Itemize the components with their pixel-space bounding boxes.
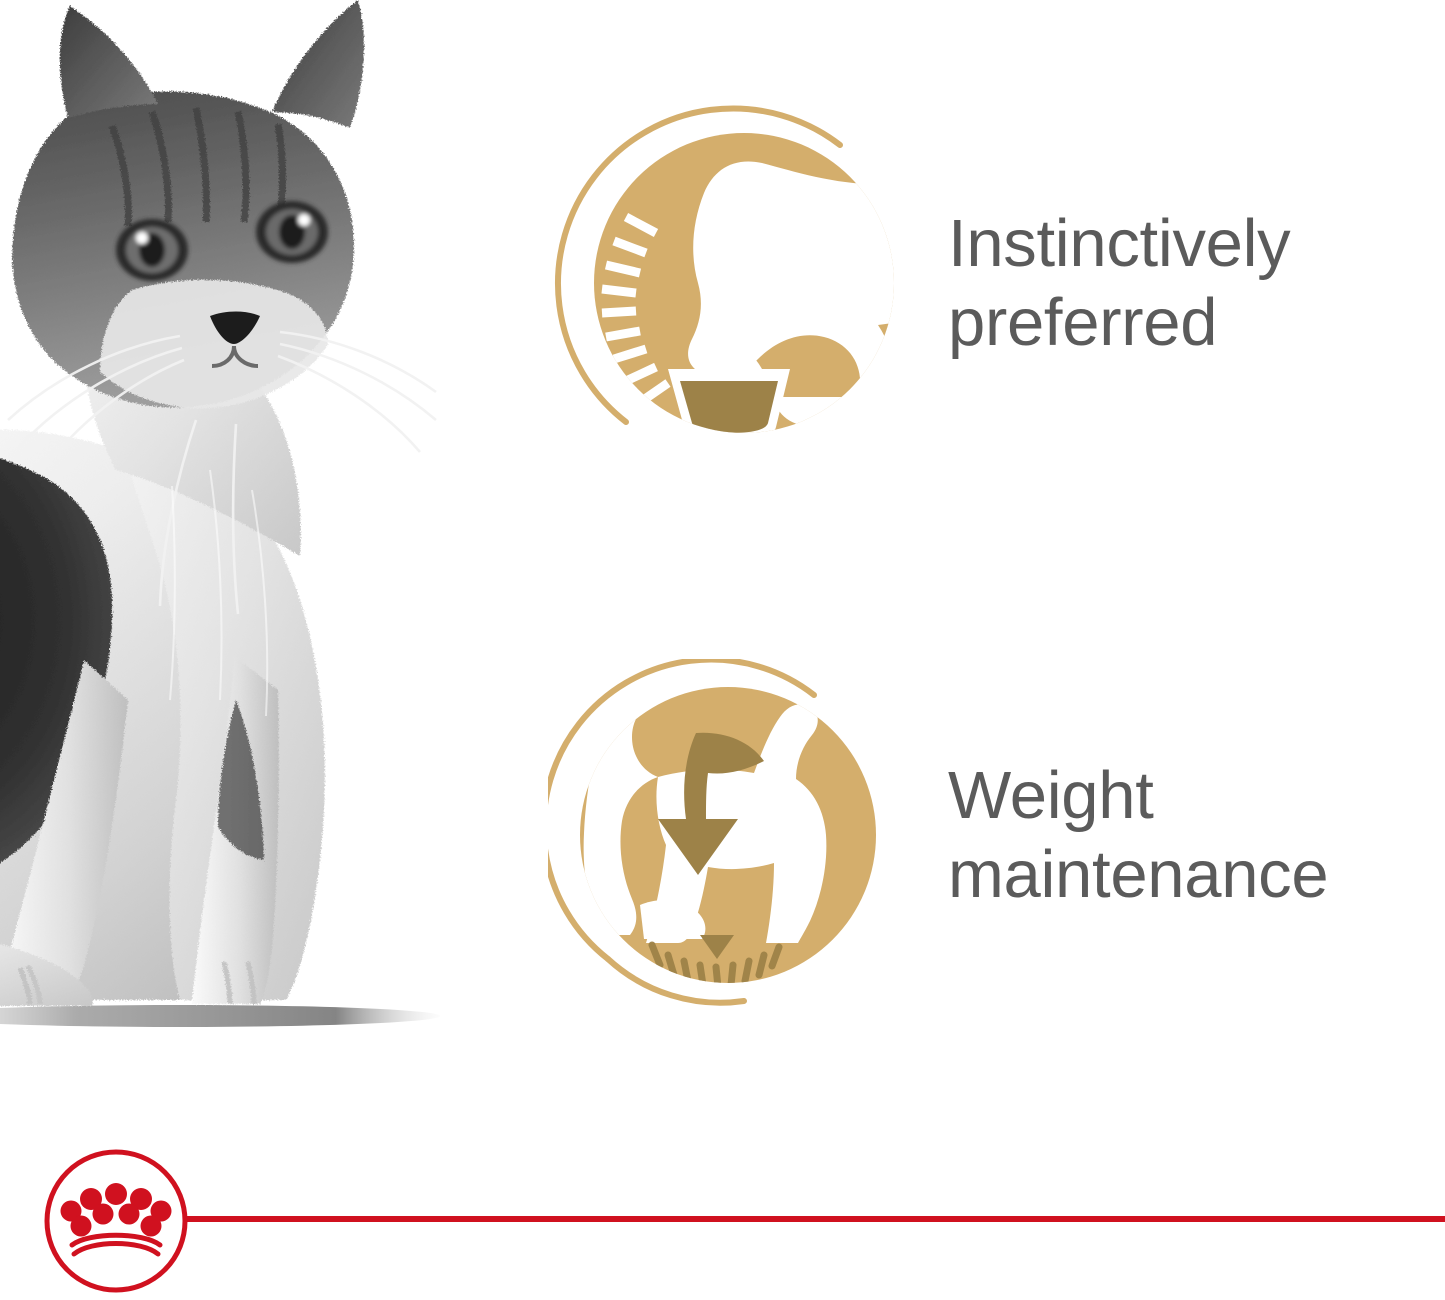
royal-canin-crown-logo bbox=[43, 1148, 189, 1294]
product-feature-panel: Instinctively preferred bbox=[0, 0, 1445, 1300]
cat-eye-right bbox=[256, 201, 328, 263]
cat-eating-from-bowl-icon bbox=[548, 97, 920, 469]
benefit-label-instinctively-preferred: Instinctively preferred bbox=[948, 204, 1445, 362]
footer-divider-rule bbox=[115, 1216, 1445, 1222]
cat-eye-left bbox=[116, 219, 188, 281]
benefit-label-weight-maintenance: Weight maintenance bbox=[948, 756, 1445, 914]
cat-weight-arrow-scale-icon bbox=[548, 659, 900, 1011]
benefit-item-weight-maintenance: Weight maintenance bbox=[548, 650, 1445, 1020]
cat-photo bbox=[0, 0, 560, 1070]
benefit-item-instinctively-preferred: Instinctively preferred bbox=[548, 98, 1445, 468]
